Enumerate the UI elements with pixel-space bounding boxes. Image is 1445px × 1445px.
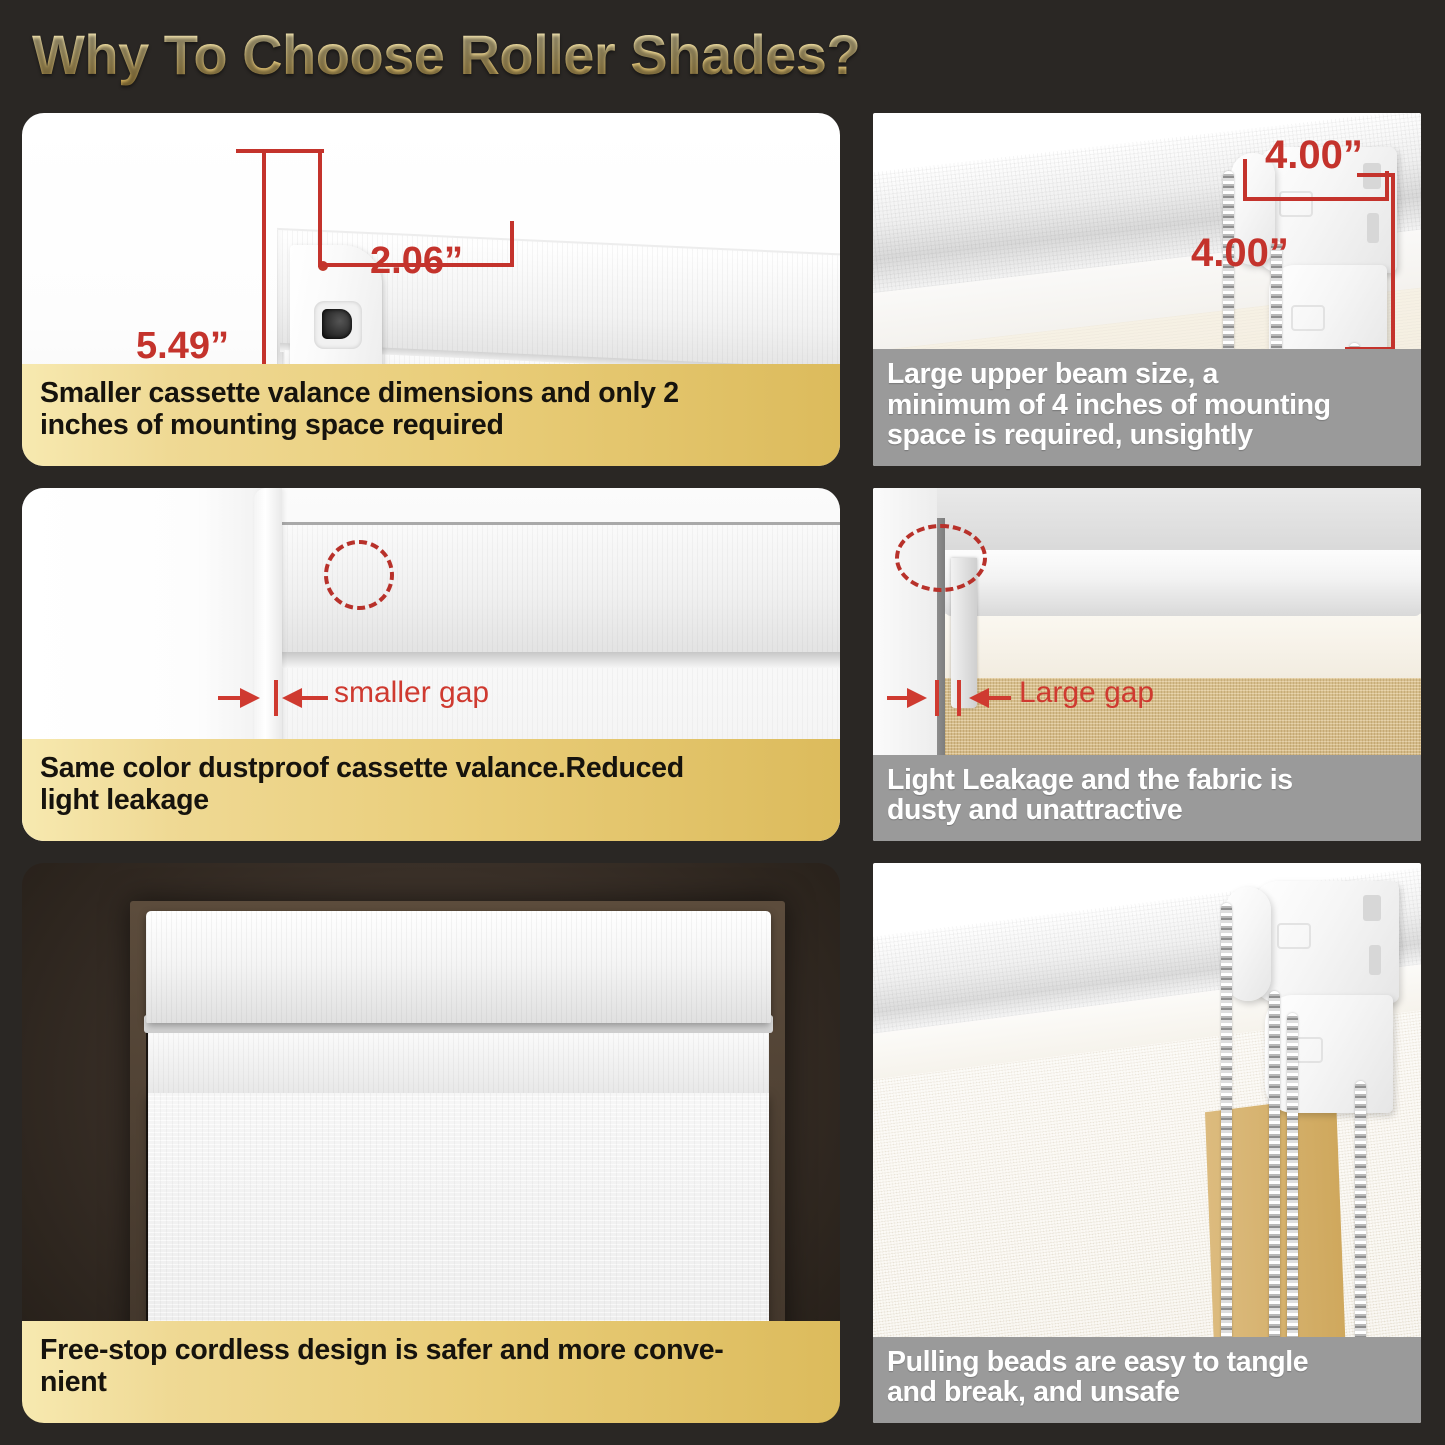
panel-6-caption: Pulling beads are easy to tangle and bre…: [873, 1337, 1421, 1423]
beam-cap-top: [1357, 173, 1395, 177]
panel-1-caption: Smaller cassette valance dimensions and …: [22, 364, 840, 466]
panel-5-caption: Free-stop cordless design is safer and m…: [22, 1321, 840, 1423]
largegap-arrow-right-head: [969, 688, 989, 708]
bead-chain-left: [1221, 903, 1232, 1385]
header: Why To Choose Roller Shades?: [0, 0, 1445, 108]
measure-tick-right: [510, 221, 514, 267]
beam-height-label: 4.00”: [1191, 231, 1289, 276]
mounting-bracket-lower: [1265, 995, 1393, 1113]
panel-1-caption-line-2: inches of mounting space required: [40, 410, 679, 442]
panel-2-caption-line-2: minimum of 4 inches of mounting: [887, 390, 1331, 420]
largegap-tick-b: [957, 680, 961, 716]
largegap-arrow-left-head: [907, 688, 927, 708]
page-title: Why To Choose Roller Shades?: [32, 22, 860, 87]
panel-3-caption-line-1: Same color dustproof cassette valance.Re…: [40, 753, 684, 785]
dimension-width-label: 2.06”: [370, 240, 463, 283]
measure-cap-top: [236, 149, 324, 153]
beam-tick-left: [1243, 159, 1247, 201]
panel-2-caption-line-1: Large upper beam size, a: [887, 359, 1331, 389]
shade-cassette: [146, 911, 771, 1023]
panel-6-caption-line-1: Pulling beads are easy to tangle: [887, 1347, 1308, 1377]
panel-smaller-cassette: 2.06” 5.49” Smaller cassette valance dim…: [22, 113, 840, 466]
bead-chain-inner: [1287, 1013, 1298, 1385]
panel-5-caption-line-1: Free-stop cordless design is safer and m…: [40, 1335, 723, 1367]
panel-dustproof-valance: smaller gap Same color dustproof cassett…: [22, 488, 840, 841]
highlight-ellipse-gap: [324, 540, 394, 610]
beam-line-width: [1243, 197, 1389, 201]
mounting-bracket-upper: [1251, 881, 1399, 1003]
panel-light-leakage: Large gap Light Leakage and the fabric i…: [873, 488, 1421, 841]
panel-6-caption-line-2: and break, and unsafe: [887, 1377, 1308, 1407]
large-gap-label: Large gap: [1019, 676, 1154, 710]
smaller-gap-label: smaller gap: [334, 676, 489, 710]
shade-fabric-cream: [945, 614, 1421, 678]
gap-arrow-left-head: [240, 688, 260, 708]
shade-midrail: [270, 652, 840, 668]
beam-line-height: [1391, 173, 1395, 351]
panel-2-caption: Large upper beam size, a minimum of 4 in…: [873, 349, 1421, 466]
largegap-arrow-right-tail: [987, 696, 1011, 700]
largegap-tick-a: [935, 680, 939, 716]
measure-tick-left: [318, 149, 322, 265]
panel-2-caption-line-3: space is required, unsightly: [887, 420, 1331, 450]
panel-4-caption: Light Leakage and the fabric is dusty an…: [873, 755, 1421, 841]
gap-tick: [274, 680, 278, 716]
shade-valance-bar: [945, 550, 1421, 616]
gap-arrow-right-head: [282, 688, 302, 708]
beam-width-label: 4.00”: [1265, 133, 1363, 178]
panel-4-caption-line-1: Light Leakage and the fabric is: [887, 765, 1293, 795]
panel-4-caption-line-2: dusty and unattractive: [887, 795, 1293, 825]
shade-upper-fold: [148, 1031, 769, 1093]
infographic-root: Why To Choose Roller Shades? 2.06”: [0, 0, 1445, 1445]
bead-chain-mid: [1269, 991, 1280, 1385]
panel-3-caption-line-2: light leakage: [40, 785, 684, 817]
gap-arrow-right-tail: [302, 696, 328, 700]
panel-1-caption-line-1: Smaller cassette valance dimensions and …: [40, 378, 679, 410]
endcap-slot: [322, 309, 352, 339]
panel-5-caption-line-2: nient: [40, 1367, 723, 1399]
panel-cordless-design: Free-stop cordless design is safer and m…: [22, 863, 840, 1423]
highlight-ellipse-leak: [895, 524, 987, 592]
dimension-height-label: 5.49”: [136, 325, 229, 368]
panel-large-upper-beam: 4.00” 4.00” Large upper beam size, a min…: [873, 113, 1421, 466]
panel-pulling-beads: Pulling beads are easy to tangle and bre…: [873, 863, 1421, 1423]
panel-3-caption: Same color dustproof cassette valance.Re…: [22, 739, 840, 841]
